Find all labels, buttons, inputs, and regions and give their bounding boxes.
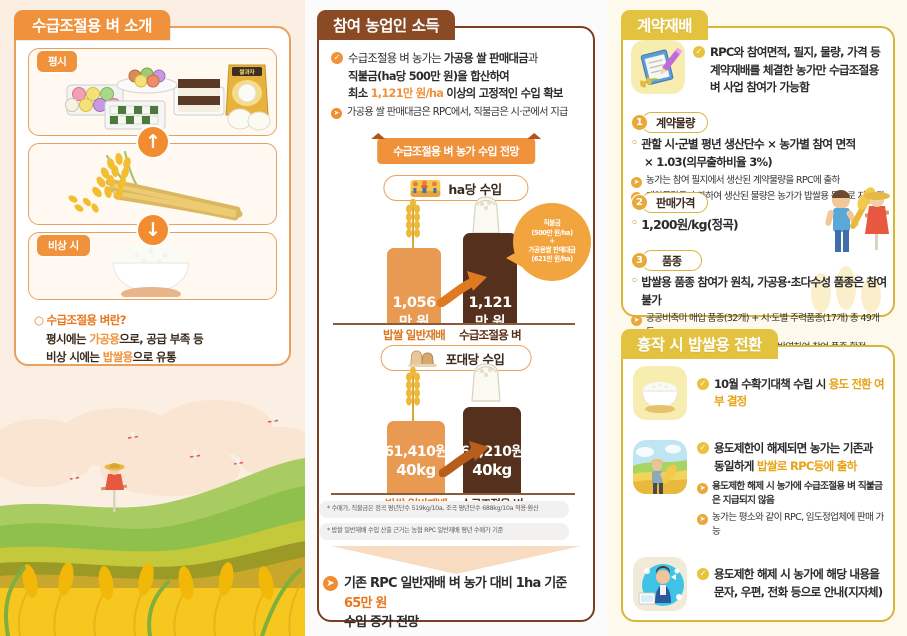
contract-intro-text: RPC와 참여면적, 필지, 물량, 가격 등 계약재배를 체결한 농가만 수급… xyxy=(710,44,880,97)
arrow-right-icon: ➤ xyxy=(697,514,708,525)
conversion-item-2: ✓ 용도제한이 해제되면 농가는 기존과 동일하게 밥쌀로 RPC등에 출하 ➤… xyxy=(633,440,887,539)
check-icon: ✓ xyxy=(697,442,709,454)
income-sub-bullet-text: 가공용 쌀 판매대금은 RPC에서, 직불금은 시·군에서 지급 xyxy=(347,106,568,120)
contract-clipboard-icon xyxy=(631,40,685,94)
income-main-bullet-text: 수급조절용 벼 농가는 가공용 쌀 판매대금과 직불금(ha당 500만 원)을… xyxy=(348,50,563,103)
check-icon: ✓ xyxy=(697,568,709,580)
footnote-1: * 수매가, 직불금은 정곡 평년단수 519kg/10a, 조곡 평년단수 6… xyxy=(319,501,569,518)
arrow-right-icon: ➤ xyxy=(323,576,338,591)
intro-line-1: 평시에는 가공용으로, 공급 부족 등 xyxy=(34,330,274,349)
section-label: 계약물량 xyxy=(641,112,708,133)
conversion-item-3-bullet: ✓ 용도제한 해제 시 농가에 해당 내용을 문자, 우편, 전화 등으로 안내… xyxy=(697,566,882,601)
farmers-harvest-icon xyxy=(410,180,440,197)
chart2-baseline xyxy=(331,493,575,495)
rice-stalk-decor-icon xyxy=(398,367,428,425)
conversion-item-1-bullet: ✓ 10월 수확기대책 수립 시 용도 전환 여부 결정 xyxy=(697,376,887,411)
conversion-item-2-bullet: ✓ 용도제한이 해제되면 농가는 기존과 동일하게 밥쌀로 RPC등에 출하 xyxy=(697,440,887,475)
arrow-up-icon: ↑ xyxy=(136,125,170,159)
conversion-item-1-text: 10월 수확기대책 수립 시 용도 전환 여부 결정 xyxy=(714,376,887,411)
contract-intro-row: ✓ RPC와 참여면적, 필지, 물량, 가격 등 계약재배를 체결한 농가만 … xyxy=(631,40,887,97)
conversion-item-1: ✓ 10월 수확기대책 수립 시 용도 전환 여부 결정 xyxy=(633,366,887,420)
rice-sacks-icon xyxy=(408,350,438,367)
section-1-main-line2: × 1.03(의무출하비율 3%) xyxy=(631,154,889,172)
conversion-item-2-body: ✓ 용도제한이 해제되면 농가는 기존과 동일하게 밥쌀로 RPC등에 출하 ➤… xyxy=(697,440,887,539)
growth-arrow-icon xyxy=(439,437,493,477)
footnote-2: * 밥쌀 일반재배 수입 산출 근거는 농협 RPC 일반재배 평년 수매가 기… xyxy=(319,523,569,540)
col1-header: 수급조절용 벼 소개 xyxy=(14,10,170,40)
arrow-right-icon: ➤ xyxy=(697,483,708,494)
tag-emergency: 비상 시 xyxy=(36,234,91,257)
infographic-page: 수급조절용 벼 소개 xyxy=(0,0,907,636)
arrow-right-icon: ➤ xyxy=(331,108,342,119)
arrow-down-icon: ↓ xyxy=(136,213,170,247)
column-income: 참여 농업인 소득 ✓ 수급조절용 벼 농가는 가공용 쌀 판매대금과 직불금(… xyxy=(305,0,607,636)
conversion-item-3: ✓ 용도제한 해제 시 농가에 해당 내용을 문자, 우편, 전화 등으로 안내… xyxy=(633,557,887,611)
tag-normal: 평시 xyxy=(36,50,78,73)
section-number: 2 xyxy=(631,194,648,211)
section-number: 1 xyxy=(631,114,648,131)
section-label: 판매가격 xyxy=(641,192,708,213)
intro-text-block: ○ 수급조절용 벼란? 평시에는 가공용으로, 공급 부족 등 비상 시에는 밥… xyxy=(34,311,274,367)
chart-ha-income: 직불금 (500만 원/ha) + 가공용쌀 판매대금 (621만 원/ha) … xyxy=(305,205,607,335)
section-1-badge: 1 계약물량 xyxy=(631,112,708,133)
arrow-right-icon: ➤ xyxy=(631,177,642,188)
farmer-field-icon xyxy=(633,440,687,494)
conversion-item-2-text: 용도제한이 해제되면 농가는 기존과 동일하게 밥쌀로 RPC등에 출하 xyxy=(714,440,873,475)
rice-sack-icon xyxy=(465,195,507,235)
income-main-bullet: ✓ 수급조절용 벼 농가는 가공용 쌀 판매대금과 직불금(ha당 500만 원… xyxy=(331,50,583,103)
rice-bowl-icon xyxy=(633,366,687,420)
col2-header: 참여 농업인 소득 xyxy=(317,10,455,40)
intro-question: ○ 수급조절용 벼란? xyxy=(34,311,274,330)
conclusion-block: ➤ 기존 RPC 일반재배 벼 농가 대비 1ha 기준 65만 원 수입 증가… xyxy=(323,574,568,633)
call-center-icon xyxy=(633,557,687,611)
conclusion-text: 기존 RPC 일반재배 벼 농가 대비 1ha 기준 65만 원 수입 증가 전… xyxy=(344,574,568,633)
conversion-item-2-sub-1: ➤ 용도제한 해제 시 농가에 수급조절용 벼 직불금은 지급되지 않음 xyxy=(697,480,887,507)
section-2-main: 1,200원/kg(정곡) xyxy=(631,216,831,235)
chart-bag-income: 61,410원 40kg 65,210원 40kg 밥쌀 일반재배 수급조절용 … xyxy=(305,375,607,505)
rice-sack-icon xyxy=(464,361,508,403)
check-icon: ✓ xyxy=(697,378,709,390)
chart1-cat-adjust: 수급조절용 벼 xyxy=(435,327,545,343)
income-forecast-ribbon: 수급조절용 벼 농가 수입 전망 xyxy=(377,138,535,164)
section-1-main-line1: 관할 시·군별 평년 생산단수 × 농가별 참여 면적 xyxy=(631,136,889,154)
section-3-badge: 3 품종 xyxy=(631,250,702,271)
conversion-item-3-text: 용도제한 해제 시 농가에 해당 내용을 문자, 우편, 전화 등으로 안내(지… xyxy=(714,566,882,601)
column-intro: 수급조절용 벼 소개 xyxy=(0,0,305,636)
rice-stalk-decor-icon xyxy=(398,199,428,251)
chart1-annotation-bubble: 직불금 (500만 원/ha) + 가공용쌀 판매대금 (621만 원/ha) xyxy=(513,203,591,281)
contract-intro-bullet: ✓ RPC와 참여면적, 필지, 물량, 가격 등 계약재배를 체결한 농가만 … xyxy=(693,40,880,97)
section-3-main: 밥쌀용 품종 참여가 원칙, 가공용·초다수성 품종은 참여 불가 xyxy=(631,274,889,309)
intro-line-2: 비상 시에는 밥쌀용으로 유통 xyxy=(34,348,274,367)
chart1-baseline xyxy=(333,323,575,325)
income-sub-bullet: ➤ 가공용 쌀 판매대금은 RPC에서, 직불금은 시·군에서 지급 xyxy=(331,106,583,120)
column-contract: 계약재배 xyxy=(607,0,907,636)
funnel-arrow-decor xyxy=(331,546,581,574)
section-label: 품종 xyxy=(641,250,702,271)
rice-field-background xyxy=(0,398,305,636)
check-icon: ✓ xyxy=(331,52,343,64)
svg-text:쌀과자: 쌀과자 xyxy=(239,68,255,76)
section-2-badge: 2 판매가격 xyxy=(631,192,708,213)
section-number: 3 xyxy=(631,252,648,269)
conversion-item-2-sub-2: ➤ 농가는 평소와 같이 RPC, 임도정업체에 판매 가능 xyxy=(697,511,887,538)
col3-panel2-header: 흉작 시 밥쌀용 전환 xyxy=(621,329,778,359)
contract-section-2: 2 판매가격 1,200원/kg(정곡) xyxy=(631,190,831,235)
check-icon: ✓ xyxy=(693,46,705,58)
col3-panel1-header: 계약재배 xyxy=(621,10,708,40)
arrow-right-icon: ➤ xyxy=(631,315,642,326)
growth-arrow-icon xyxy=(437,267,491,307)
